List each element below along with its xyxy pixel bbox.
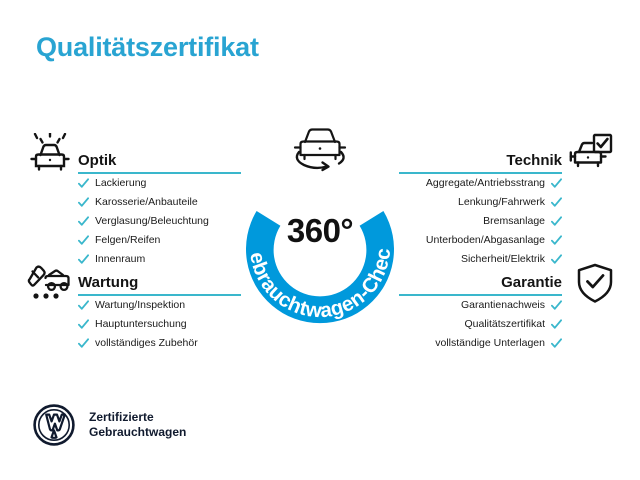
check-list-garantie: Garantienachweis Qualitätszertifikat vol… xyxy=(399,296,562,353)
section-garantie: Garantie Garantienachweis Qualitätszerti… xyxy=(399,266,562,353)
check-icon xyxy=(551,319,562,330)
list-item: Karosserie/Anbauteile xyxy=(78,193,241,212)
check-icon xyxy=(551,197,562,208)
check-icon xyxy=(78,319,89,330)
check-list-technik: Aggregate/Antriebsstrang Lenkung/Fahrwer… xyxy=(399,174,562,269)
section-title: Technik xyxy=(506,152,562,169)
list-item-label: Unterboden/Abgasanlage xyxy=(426,235,545,246)
check-list-wartung: Wartung/Inspektion Hauptuntersuchung vol… xyxy=(78,296,241,353)
list-item: Garantienachweis xyxy=(399,296,562,315)
vw-certified-lockup: Zertifizierte Gebrauchtwagen xyxy=(33,404,186,446)
list-item: Lenkung/Fahrwerk xyxy=(399,193,562,212)
check-icon xyxy=(551,300,562,311)
list-item: Verglasung/Beleuchtung xyxy=(78,212,241,231)
car-service-wrench-icon xyxy=(27,263,73,307)
list-item-label: Lenkung/Fahrwerk xyxy=(458,197,545,208)
section-divider xyxy=(399,172,562,174)
vw-wordmark-line1: Zertifizierte xyxy=(89,410,186,425)
check-icon xyxy=(78,197,89,208)
list-item-label: Verglasung/Beleuchtung xyxy=(95,216,209,227)
badge-value: 360° xyxy=(228,212,412,250)
list-item: vollständige Unterlagen xyxy=(399,334,562,353)
check-icon xyxy=(78,300,89,311)
section-optik: Optik Lackierung Karosserie/Anbauteile V… xyxy=(78,144,241,269)
shield-check-icon xyxy=(572,262,618,306)
check-list-optik: Lackierung Karosserie/Anbauteile Verglas… xyxy=(78,174,241,269)
list-item-label: Qualitätszertifikat xyxy=(464,319,545,330)
check-icon xyxy=(78,338,89,349)
list-item-label: Hauptuntersuchung xyxy=(95,319,187,330)
section-header-optik: Optik xyxy=(78,144,241,174)
section-divider xyxy=(399,294,562,296)
section-divider xyxy=(78,172,241,174)
car-shine-icon xyxy=(27,133,73,177)
list-item-label: Wartung/Inspektion xyxy=(95,300,185,311)
vw-wordmark-line2: Gebrauchtwagen xyxy=(89,425,186,440)
check-icon xyxy=(78,216,89,227)
check-icon xyxy=(551,338,562,349)
list-item: Bremsanlage xyxy=(399,212,562,231)
section-divider xyxy=(78,294,241,296)
list-item: Wartung/Inspektion xyxy=(78,296,241,315)
car-checkbox-icon xyxy=(568,133,614,177)
section-wartung: Wartung Wartung/Inspektion Hauptuntersuc… xyxy=(78,266,241,353)
section-header-wartung: Wartung xyxy=(78,266,241,296)
vw-logo-icon xyxy=(33,404,75,446)
check-icon xyxy=(78,235,89,246)
page-title: Qualitätszertifikat xyxy=(36,32,259,63)
section-technik: Technik Aggregate/Antriebsstrang Lenkung… xyxy=(399,144,562,269)
section-title: Optik xyxy=(78,152,116,169)
car-rotate-icon xyxy=(283,123,357,173)
list-item-label: Felgen/Reifen xyxy=(95,235,160,246)
section-title: Garantie xyxy=(501,274,562,291)
check-icon xyxy=(551,254,562,265)
check-icon xyxy=(78,254,89,265)
check-icon xyxy=(78,178,89,189)
list-item-label: Lackierung xyxy=(95,178,146,189)
list-item: Qualitätszertifikat xyxy=(399,315,562,334)
list-item-label: Karosserie/Anbauteile xyxy=(95,197,198,208)
section-title: Wartung xyxy=(78,274,138,291)
list-item: Felgen/Reifen xyxy=(78,231,241,250)
vw-wordmark: Zertifizierte Gebrauchtwagen xyxy=(89,410,186,440)
list-item: Aggregate/Antriebsstrang xyxy=(399,174,562,193)
section-header-technik: Technik xyxy=(399,144,562,174)
list-item-label: Sicherheit/Elektrik xyxy=(461,254,545,265)
check-icon xyxy=(551,216,562,227)
list-item-label: Garantienachweis xyxy=(461,300,545,311)
list-item-label: vollständige Unterlagen xyxy=(435,338,545,349)
list-item: Unterboden/Abgasanlage xyxy=(399,231,562,250)
check-icon xyxy=(551,235,562,246)
list-item-label: Bremsanlage xyxy=(483,216,545,227)
list-item-label: Innenraum xyxy=(95,254,145,265)
list-item: Lackierung xyxy=(78,174,241,193)
list-item: vollständiges Zubehör xyxy=(78,334,241,353)
list-item-label: Aggregate/Antriebsstrang xyxy=(426,178,545,189)
list-item-label: vollständiges Zubehör xyxy=(95,338,198,349)
section-header-garantie: Garantie xyxy=(399,266,562,296)
check-icon xyxy=(551,178,562,189)
list-item: Hauptuntersuchung xyxy=(78,315,241,334)
